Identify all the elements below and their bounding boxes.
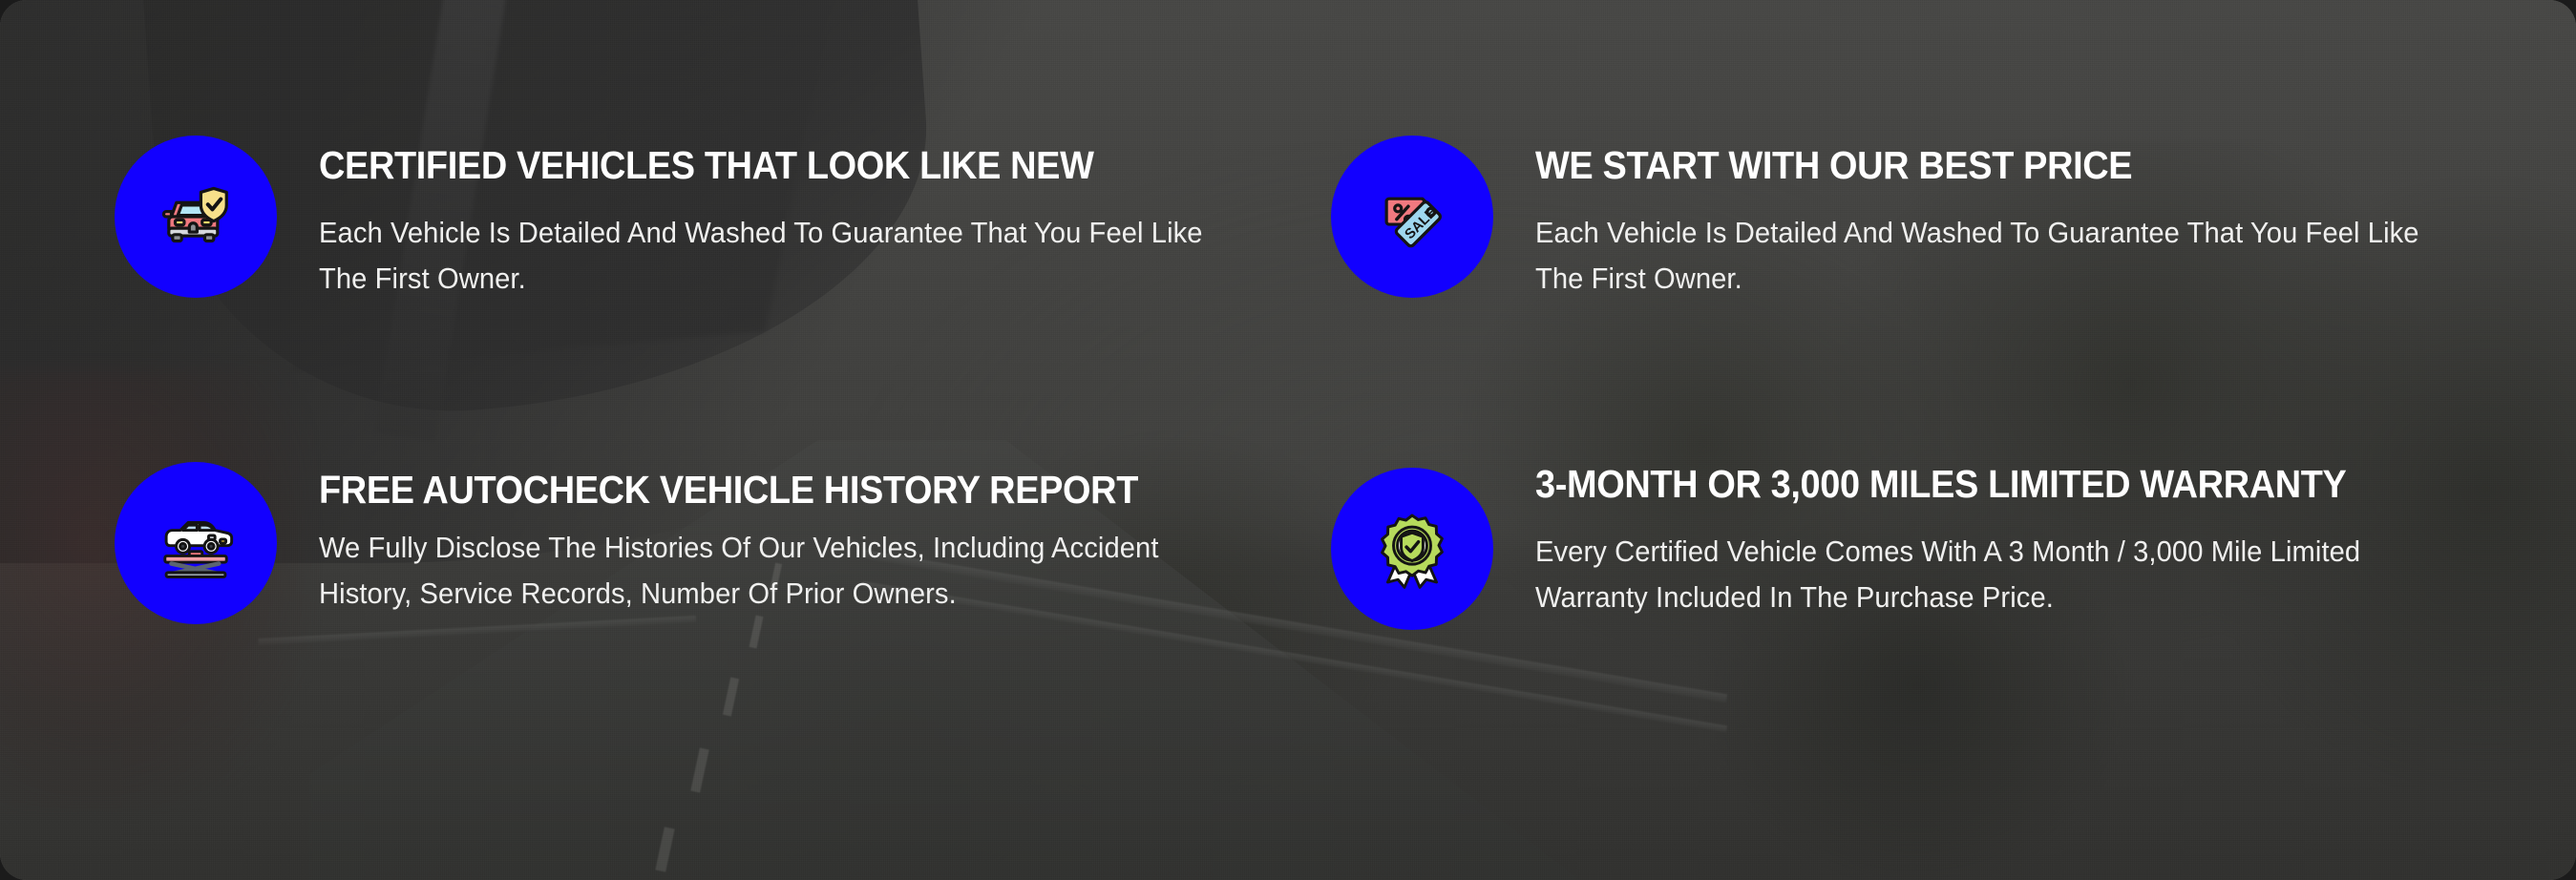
feature-item-best-price: SALE WE START WITH OUR BEST PRICE Each V… (1331, 78, 2461, 431)
feature-copy: CERTIFIED VEHICLES THAT LOOK LIKE NEW Ea… (319, 78, 1245, 302)
feature-copy: FREE AUTOCHECK VEHICLE HISTORY REPORT We… (319, 441, 1245, 617)
car-on-lift-icon (155, 502, 237, 584)
feature-copy: WE START WITH OUR BEST PRICE Each Vehicl… (1535, 78, 2461, 302)
dealership-benefits-banner: CERTIFIED VEHICLES THAT LOOK LIKE NEW Ea… (0, 0, 2576, 880)
feature-item-certified-vehicles: CERTIFIED VEHICLES THAT LOOK LIKE NEW Ea… (115, 78, 1245, 431)
feature-item-limited-warranty: 3-MONTH OR 3,000 MILES LIMITED WARRANTY … (1331, 441, 2461, 794)
feature-description: Each Vehicle Is Detailed And Washed To G… (319, 211, 1203, 302)
feature-icon-badge (115, 136, 277, 298)
feature-description: Every Certified Vehicle Comes With A 3 M… (1535, 530, 2419, 620)
feature-description: Each Vehicle Is Detailed And Washed To G… (1535, 211, 2419, 302)
feature-title: WE START WITH OUR BEST PRICE (1535, 145, 2392, 186)
feature-copy: 3-MONTH OR 3,000 MILES LIMITED WARRANTY … (1535, 441, 2461, 620)
feature-title: 3-MONTH OR 3,000 MILES LIMITED WARRANTY (1535, 464, 2392, 505)
feature-icon-badge: SALE (1331, 136, 1493, 298)
certified-car-shield-icon (155, 176, 237, 258)
features-grid: CERTIFIED VEHICLES THAT LOOK LIKE NEW Ea… (0, 0, 2576, 880)
feature-title: CERTIFIED VEHICLES THAT LOOK LIKE NEW (319, 145, 1175, 186)
feature-title: FREE AUTOCHECK VEHICLE HISTORY REPORT (319, 470, 1175, 511)
feature-icon-badge (115, 462, 277, 624)
sale-price-tag-icon: SALE (1371, 176, 1453, 258)
feature-item-autocheck-report: FREE AUTOCHECK VEHICLE HISTORY REPORT We… (115, 441, 1245, 794)
feature-description: We Fully Disclose The Histories Of Our V… (319, 526, 1203, 617)
warranty-award-badge-icon (1371, 508, 1453, 590)
feature-icon-badge (1331, 468, 1493, 630)
